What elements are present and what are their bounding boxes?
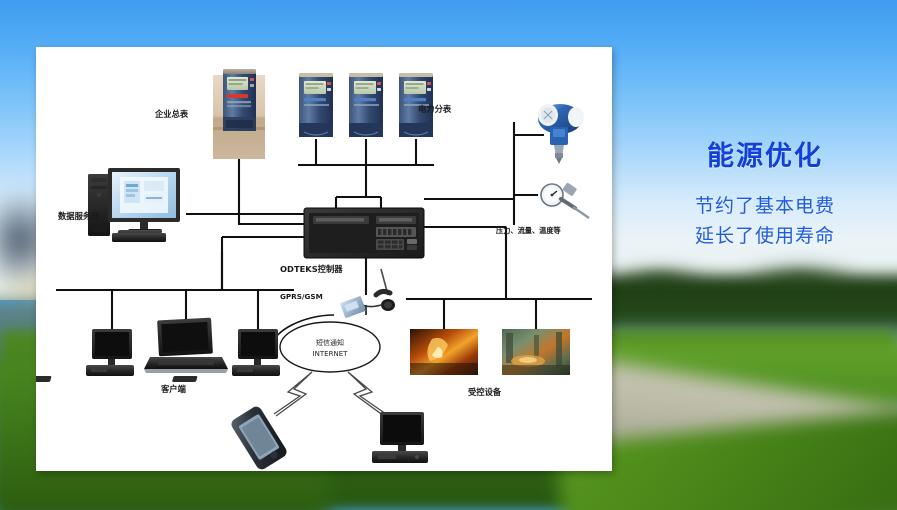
internet-label-line2: INTERNET [313,350,349,358]
electric-sub-meter [299,73,333,137]
label-client: 客户端 [160,384,187,394]
enterprise-main-meter [213,69,265,159]
lightning-bolt-icon [348,372,386,416]
electric-sub-meter [349,73,383,137]
electric-sub-meter-group [299,73,433,137]
client-terminal-group [36,318,280,382]
caption-lines: 节约了基本电费 延长了使用寿命 [640,192,890,251]
label-gprs-gsm: GPRS/GSM [280,292,323,301]
client-terminal [36,329,134,382]
odteks-controller [304,208,424,258]
data-server [88,168,180,242]
pressure-transmitter [538,104,584,164]
label-enterprise-main-meter: 企业总表 [154,109,189,119]
remote-pc [372,412,428,463]
slide-canvas: 能源优化 节约了基本电费 延长了使用寿命 [0,0,897,510]
caption-line-1: 节约了基本电费 [640,192,890,221]
caption-line-2: 延长了使用寿命 [640,222,890,251]
plant-photo [502,329,570,375]
client-laptop [144,318,228,373]
pressure-gauge [541,182,589,218]
diagram-panel: 企业总表 [36,47,612,471]
mobile-phone [229,404,289,471]
internet-label-line1: 短信通知 [316,338,344,347]
internet-cloud: 短信通知 INTERNET [280,322,380,372]
label-controlled-equipment: 受控设备 [468,387,502,397]
caption-title: 能源优化 [640,140,890,172]
lightning-bolt-icon [274,372,312,416]
label-data-server: 数据服务器 [58,211,100,221]
wireless-link-group [274,372,386,416]
label-sensors: 压力、流量、温度等 [496,226,562,235]
controlled-equipment-group [410,329,570,375]
label-odteks-controller: ODTEKS控制器 [280,264,343,274]
label-electric-sub-meter: 电力分表 [418,104,452,114]
caption-block: 能源优化 节约了基本电费 延长了使用寿命 [640,140,890,251]
gprs-modem [340,269,395,318]
furnace-photo [410,329,478,375]
